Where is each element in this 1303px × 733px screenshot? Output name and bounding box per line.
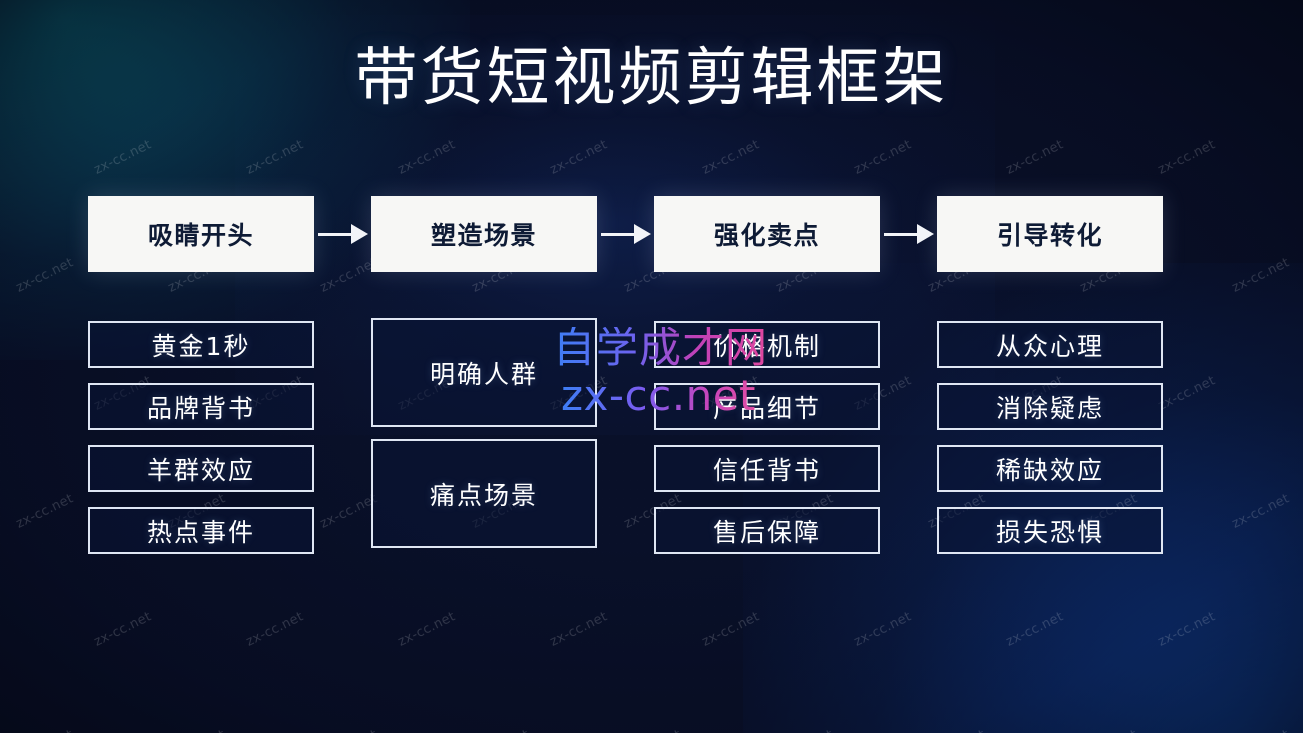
stage-column-2: 塑造场景 <box>371 196 597 272</box>
stage-item[interactable]: 消除疑虑 <box>937 383 1163 430</box>
arrow-shaft <box>601 233 634 236</box>
stage-item[interactable]: 品牌背书 <box>88 383 314 430</box>
page-title: 带货短视频剪辑框架 <box>0 44 1303 112</box>
stage-item[interactable]: 损失恐惧 <box>937 507 1163 554</box>
stage-column-3: 强化卖点 <box>654 196 880 272</box>
stage-header-1[interactable]: 吸睛开头 <box>88 196 314 272</box>
stage-items-2: 明确人群 痛点场景 <box>371 318 597 560</box>
stage-item[interactable]: 黄金1秒 <box>88 321 314 368</box>
stage-items-4: 从众心理 消除疑虑 稀缺效应 损失恐惧 <box>937 321 1163 569</box>
slide-canvas: zx-cc.netzx-cc.netzx-cc.netzx-cc.netzx-c… <box>0 0 1303 733</box>
right-arrow-icon <box>601 227 651 241</box>
stage-item[interactable]: 热点事件 <box>88 507 314 554</box>
arrow-shaft <box>318 233 351 236</box>
stage-items-1: 黄金1秒 品牌背书 羊群效应 热点事件 <box>88 321 314 569</box>
arrow-shaft <box>884 233 917 236</box>
stage-header-2[interactable]: 塑造场景 <box>371 196 597 272</box>
stage-header-4[interactable]: 引导转化 <box>937 196 1163 272</box>
arrow-head <box>634 224 651 244</box>
stage-item[interactable]: 明确人群 <box>371 318 597 427</box>
arrow-head <box>351 224 368 244</box>
arrow-head <box>917 224 934 244</box>
stage-item[interactable]: 羊群效应 <box>88 445 314 492</box>
stage-header-3[interactable]: 强化卖点 <box>654 196 880 272</box>
stage-item[interactable]: 售后保障 <box>654 507 880 554</box>
stage-item[interactable]: 从众心理 <box>937 321 1163 368</box>
stage-items-3: 价格机制 产品细节 信任背书 售后保障 <box>654 321 880 569</box>
stage-item[interactable]: 产品细节 <box>654 383 880 430</box>
right-arrow-icon <box>318 227 368 241</box>
stage-item[interactable]: 信任背书 <box>654 445 880 492</box>
stage-item[interactable]: 价格机制 <box>654 321 880 368</box>
stage-column-4: 引导转化 <box>937 196 1163 272</box>
stage-item[interactable]: 稀缺效应 <box>937 445 1163 492</box>
stage-column-1: 吸睛开头 <box>88 196 314 272</box>
stage-item[interactable]: 痛点场景 <box>371 439 597 548</box>
right-arrow-icon <box>884 227 934 241</box>
